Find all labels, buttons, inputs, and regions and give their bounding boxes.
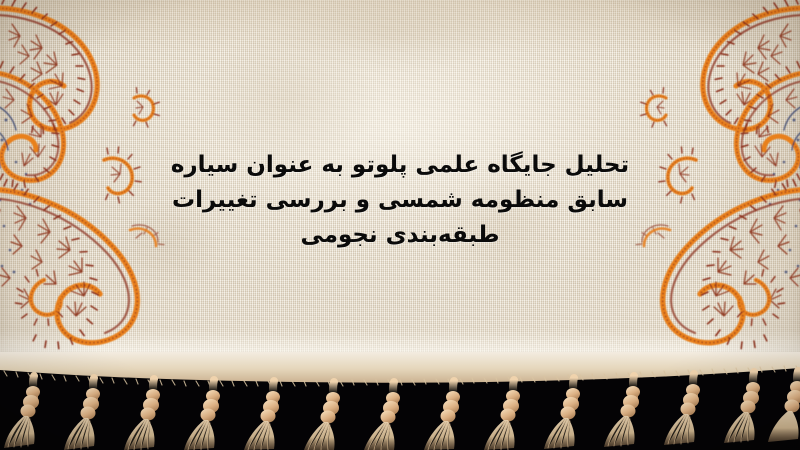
title-line-1: تحلیل جایگاه علمی پلوتو به عنوان سیاره [0,148,800,183]
tassel-fringe [0,352,800,450]
title-slide: تحلیل جایگاه علمی پلوتو به عنوان سیاره س… [0,0,800,450]
title-line-2: سابق منظومه شمسی و بررسی تغییرات [0,183,800,218]
page-title: تحلیل جایگاه علمی پلوتو به عنوان سیاره س… [0,148,800,253]
title-line-3: طبقه‌بندی نجومی [0,218,800,253]
